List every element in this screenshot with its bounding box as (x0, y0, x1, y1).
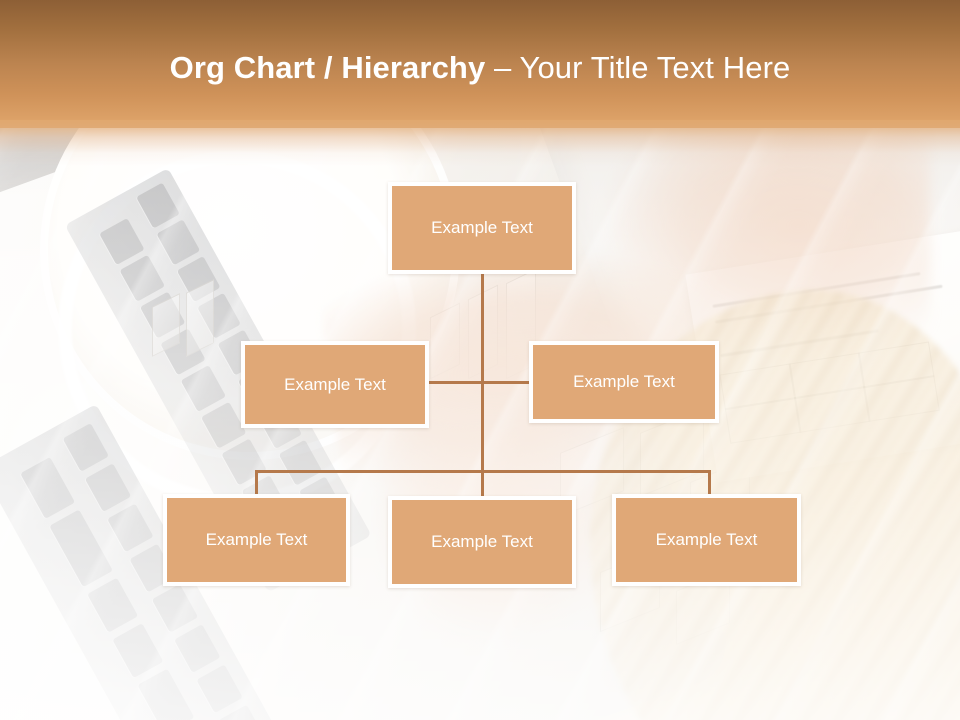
drop-leaf-right (708, 470, 711, 496)
drop-leaf-center (481, 470, 484, 498)
node-mid-right[interactable]: Example Text (529, 341, 719, 423)
node-mid-left-label: Example Text (284, 374, 386, 396)
node-leaf-center[interactable]: Example Text (388, 496, 576, 588)
node-leaf-center-label: Example Text (431, 531, 533, 553)
node-leaf-left-label: Example Text (206, 529, 308, 551)
node-leaf-left[interactable]: Example Text (163, 494, 350, 586)
drop-leaf-left (255, 470, 258, 496)
slide-canvas: Org Chart / Hierarchy – Your Title Text … (0, 0, 960, 720)
spine-root-to-mid (481, 273, 484, 471)
node-leaf-right-label: Example Text (656, 529, 758, 551)
node-leaf-right[interactable]: Example Text (612, 494, 801, 586)
node-mid-right-label: Example Text (573, 371, 675, 393)
crossbar-level2 (424, 381, 534, 384)
node-root[interactable]: Example Text (388, 182, 576, 274)
org-chart: Example TextExample TextExample TextExam… (0, 0, 960, 720)
node-mid-left[interactable]: Example Text (241, 341, 429, 428)
node-root-label: Example Text (431, 217, 533, 239)
